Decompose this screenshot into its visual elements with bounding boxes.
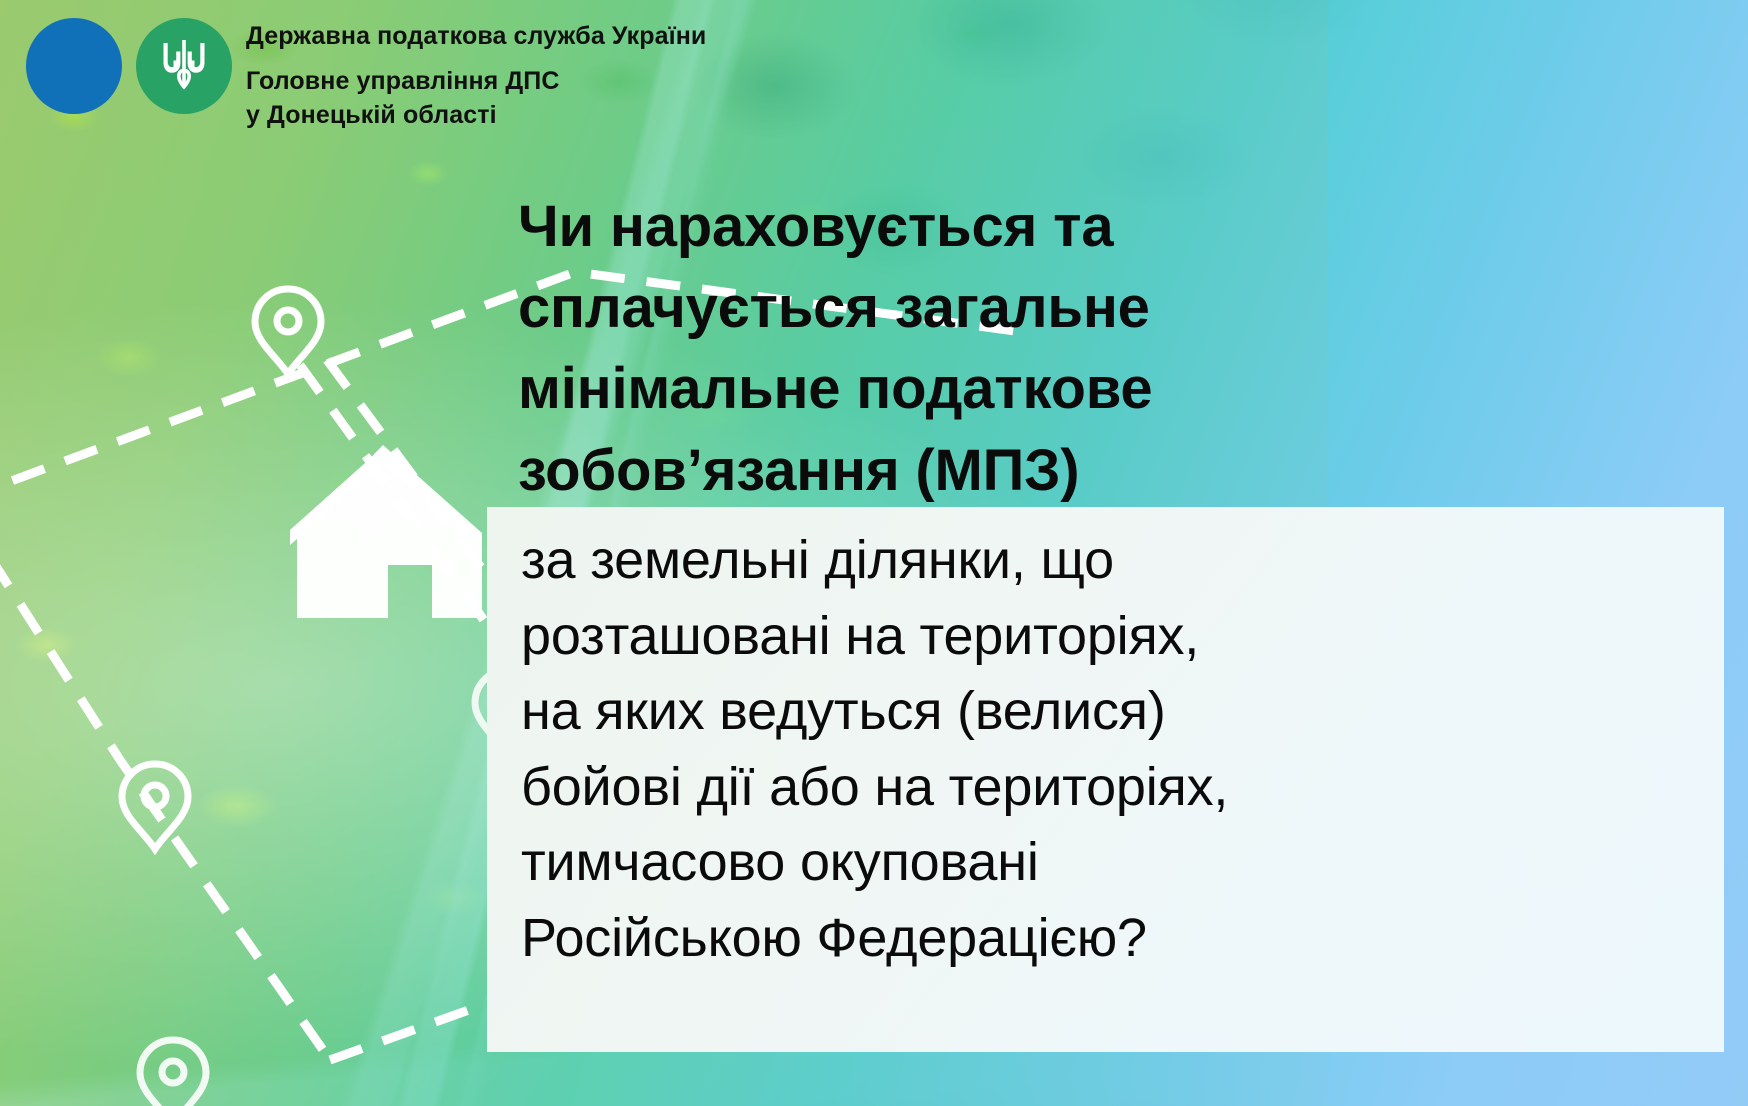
- callout-line: на яких ведуться (велися): [521, 674, 1701, 750]
- headline-line: Чи нараховується та: [518, 186, 1698, 267]
- callout-line: бойові дії або на територіях,: [521, 750, 1701, 826]
- logo-lockup: [22, 10, 222, 122]
- ukraine-trident-icon: [162, 39, 206, 93]
- callout-line: Російською Федерацією?: [521, 901, 1701, 977]
- org-title-line-2: Головне управління ДПС: [246, 65, 706, 98]
- callout-line: розташовані на територіях,: [521, 599, 1701, 675]
- headline-line: зобов’язання (МПЗ): [518, 430, 1698, 511]
- poster-canvas: Державна податкова служба України Головн…: [0, 0, 1748, 1106]
- headline-question: Чи нараховується та сплачується загальне…: [518, 186, 1698, 511]
- brand-header: Державна податкова служба України Головн…: [22, 10, 706, 132]
- callout-text-block: за земельні ділянки, що розташовані на т…: [521, 523, 1701, 977]
- blue-circle-icon: [26, 18, 122, 114]
- organisation-name-block: Державна податкова служба України Головн…: [246, 10, 706, 132]
- headline-line: сплачується загальне: [518, 267, 1698, 348]
- green-circle-icon: [136, 18, 232, 114]
- org-title-line-3: у Донецькій області: [246, 99, 706, 132]
- callout-line: за земельні ділянки, що: [521, 523, 1701, 599]
- org-title-line-1: Державна податкова служба України: [246, 20, 706, 53]
- callout-panel: за земельні ділянки, що розташовані на т…: [487, 507, 1724, 1052]
- callout-line: тимчасово окуповані: [521, 825, 1701, 901]
- headline-line: мінімальне податкове: [518, 348, 1698, 429]
